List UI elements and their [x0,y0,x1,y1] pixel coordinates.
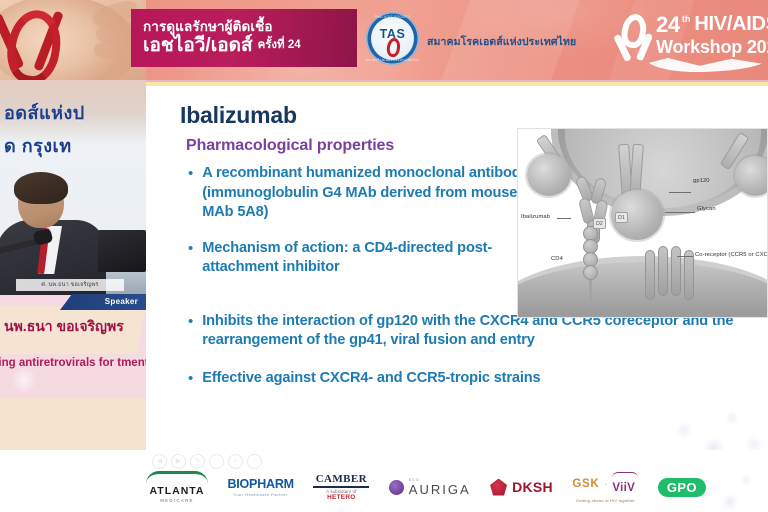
minimize-icon[interactable]: − [247,454,262,469]
laptop-icon [98,230,146,272]
gsk-tagline: Getting ahead of HIV together [576,498,635,503]
camber-rule [313,486,369,488]
video-stage-banner: อดส์แห่งป ด กรุงเท [0,96,146,162]
session-topic: cing antiretrovirals for tment and preve… [0,356,146,371]
bullet-text: Mechanism of action: a CD4-directed post… [202,239,536,278]
gsk-name: GSK [572,478,599,490]
previous-icon[interactable]: ◀ [152,454,167,469]
bullet-list: • A recombinant humanized monoclonal ant… [186,164,536,405]
sponsor-logo-row: ATLANTA MEDICARE BIOPHARM Your Healthcar… [146,470,706,504]
sponsor-logo-gpo: GPO [658,478,706,497]
bullet-marker-icon: • [186,312,193,351]
page-title: Ibalizumab [180,102,297,129]
atlanta-arc-icon [146,471,208,484]
speaker-name: นพ.ธนา ขอเจริญพร [4,316,146,338]
bullet-marker-icon: • [186,164,193,223]
play-icon[interactable]: ▶ [171,454,186,469]
event-thai-title: การดูแลรักษาผู้ติดเชื้อ เอชไอวี/เอดส์ คร… [131,9,357,67]
workshop-ribbon-icon [616,14,654,62]
speaker-video-feed[interactable]: อดส์แห่งป ด กรุงเท ศ. นพ.ธนา ขอเจริญพร [0,80,146,295]
sponsor-logo-auriga: ECO AURIGA [389,478,471,497]
dksh-mark-icon [490,479,507,496]
list-item: • Mechanism of action: a CD4-directed po… [186,239,536,278]
bullet-text: A recombinant humanized monoclonal antib… [202,164,536,223]
bullet-text: Effective against CXCR4- and CCR5-tropic… [202,369,768,389]
event-banner: การดูแลรักษาผู้ติดเชื้อ เอชไอวี/เอดส์ คร… [0,0,768,80]
event-thai-title-suffix: ครั้งที่ 24 [258,36,301,56]
biopharm-subtitle: Your Healthcare Partner [234,492,288,497]
speaker-hair [14,172,68,204]
atlanta-subtitle: MEDICARE [160,498,194,503]
event-thai-title-line1: การดูแลรักษาผู้ติดเชื้อ [143,19,347,35]
gsk-separator-icon: · [604,479,607,489]
speaker-badge: Speaker [60,294,146,310]
viiv-name: ViiV [612,482,635,494]
slide-pink-rule [146,80,768,82]
video-stage-banner-line1: อดส์แห่งป [4,98,146,127]
slide-subtitle: Pharmacological properties [186,137,394,155]
workshop-text-block: 24 th HIV/AIDS Workshop 202 [656,14,768,58]
speaker-info-card: Speaker นพ.ธนา ขอเจริญพร cing antiretrov… [0,294,146,406]
slide-content: Ibalizumab Pharmacological properties • … [146,80,768,450]
figure-border [517,128,768,318]
tas-society-name: สมาคมโรคเอดส์แห่งประเทศไทย [427,33,576,50]
dksh-name: DKSH [512,479,553,495]
list-item: • A recombinant humanized monoclonal ant… [186,164,536,223]
auriga-mark-icon [389,480,404,495]
left-sidebar: อดส์แห่งป ด กรุงเท ศ. นพ.ธนา ขอเจริญพร S… [0,80,146,512]
workshop-swoosh-decoration [646,58,768,72]
gpo-name: GPO [658,478,706,497]
bullet-marker-icon: • [186,369,193,389]
event-thai-title-line2: เอชไอวี/เอดส์ [143,36,253,57]
biopharm-name: BIOPHARM [227,477,293,491]
annotate-icon[interactable]: ✎ [190,454,205,469]
zoom-icon[interactable]: ⌕ [228,454,243,469]
sponsor-logo-gsk-viiv: GSK · ViiV Getting ahead of HIV together [572,472,638,503]
seal-micro-text-top: THAI AIDS SOCIETY [366,15,419,19]
workshop-edition-ordinal: th [682,15,691,24]
bullet-marker-icon: • [186,239,193,278]
volume-icon[interactable] [209,454,224,469]
seal-micro-text-bottom: สมาคมโรคเอดส์แห่งประเทศไทย [366,58,419,63]
sponsor-logo-biopharm: BIOPHARM Your Healthcare Partner [227,477,293,497]
tas-society-seal-icon: THAI AIDS SOCIETY TAS สมาคมโรคเอดส์แห่งป… [366,12,419,65]
video-stage-banner-line2: ด กรุงเท [4,131,146,160]
sponsor-logo-dksh: DKSH [490,479,553,496]
player-controls[interactable]: ◀ ▶ ✎ ⌕ − [152,454,262,469]
atlanta-name: ATLANTA [149,485,204,497]
sponsor-logo-camber: CAMBER A subsidiary of HETERO [313,473,369,501]
workshop-edition-number: 24 [656,14,680,36]
presentation-screen: การดูแลรักษาผู้ติดเชื้อ เอชไอวี/เอดส์ คร… [0,0,768,512]
auriga-name: AURIGA [409,482,471,497]
hand-ribbon-photo [0,0,146,80]
viiv-arc-icon [612,472,638,478]
sponsor-logo-atlanta: ATLANTA MEDICARE [146,471,208,503]
workshop-logo-lockup: 24 th HIV/AIDS Workshop 202 [616,6,768,74]
video-name-strip: ศ. นพ.ธนา ขอเจริญพร [16,279,124,291]
list-item: • Effective against CXCR4- and CCR5-trop… [186,369,768,389]
workshop-hiv-aids-text: HIV/AIDS [694,14,768,34]
mechanism-diagram: D2 D1 Ibalizumab CD4 gp120 Glycan Co-rec… [517,128,768,318]
workshop-name-year: Workshop 202 [656,38,768,58]
camber-parent-name: HETERO [327,494,355,501]
camber-name: CAMBER [316,473,367,485]
